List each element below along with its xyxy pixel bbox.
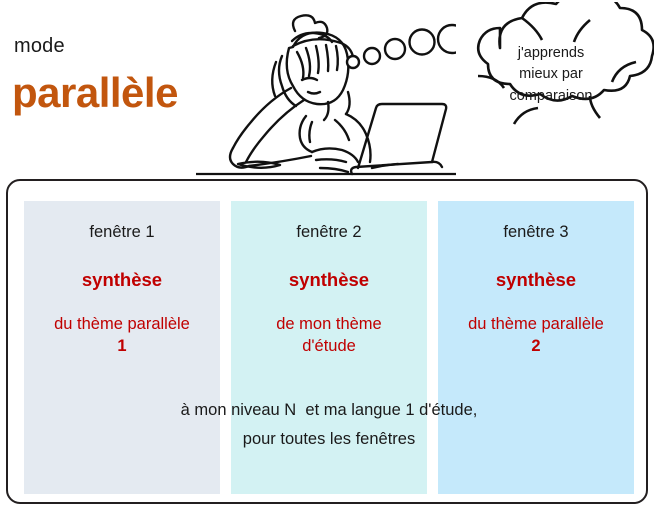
header-section: mode parallèle bbox=[0, 0, 657, 180]
window-label-2: fenêtre 2 bbox=[231, 223, 427, 243]
synthesis-label-2: synthèse bbox=[231, 269, 427, 291]
window-description-2: de mon thème d'étude bbox=[231, 313, 427, 358]
thought-line-3: comparaison bbox=[509, 86, 592, 107]
window-description-text-3: du thème parallèle bbox=[468, 315, 604, 333]
thought-line-1: j'apprends bbox=[518, 43, 584, 64]
thought-bubble-text: j'apprends mieux par comparaison bbox=[448, 2, 654, 142]
thought-line-2: mieux par bbox=[519, 64, 583, 85]
mode-label: mode bbox=[14, 36, 65, 56]
window-description-text-2: de mon thème bbox=[276, 315, 381, 333]
window-label-1: fenêtre 1 bbox=[24, 223, 220, 243]
window-column-1[interactable]: fenêtre 1 synthèse du thème parallèle 1 bbox=[24, 201, 220, 494]
window-description-3: du thème parallèle 2 bbox=[438, 313, 634, 358]
window-description-1: du thème parallèle 1 bbox=[24, 313, 220, 358]
window-description-text-1: du thème parallèle bbox=[54, 315, 190, 333]
window-label-3: fenêtre 3 bbox=[438, 223, 634, 243]
window-description-number-1: 1 bbox=[117, 337, 126, 355]
synthesis-label-3: synthèse bbox=[438, 269, 634, 291]
window-column-2[interactable]: fenêtre 2 synthèse de mon thème d'étude bbox=[231, 201, 427, 494]
mode-title: parallèle bbox=[12, 72, 178, 114]
window-column-3[interactable]: fenêtre 3 synthèse du thème parallèle 2 bbox=[438, 201, 634, 494]
thought-dots-icon bbox=[344, 22, 456, 74]
synthesis-label-1: synthèse bbox=[24, 269, 220, 291]
parallel-mode-panel: fenêtre 1 synthèse du thème parallèle 1 … bbox=[6, 179, 648, 504]
windows-columns: fenêtre 1 synthèse du thème parallèle 1 … bbox=[24, 201, 634, 494]
window-description-number-2: d'étude bbox=[302, 337, 356, 355]
window-description-number-3: 2 bbox=[531, 337, 540, 355]
